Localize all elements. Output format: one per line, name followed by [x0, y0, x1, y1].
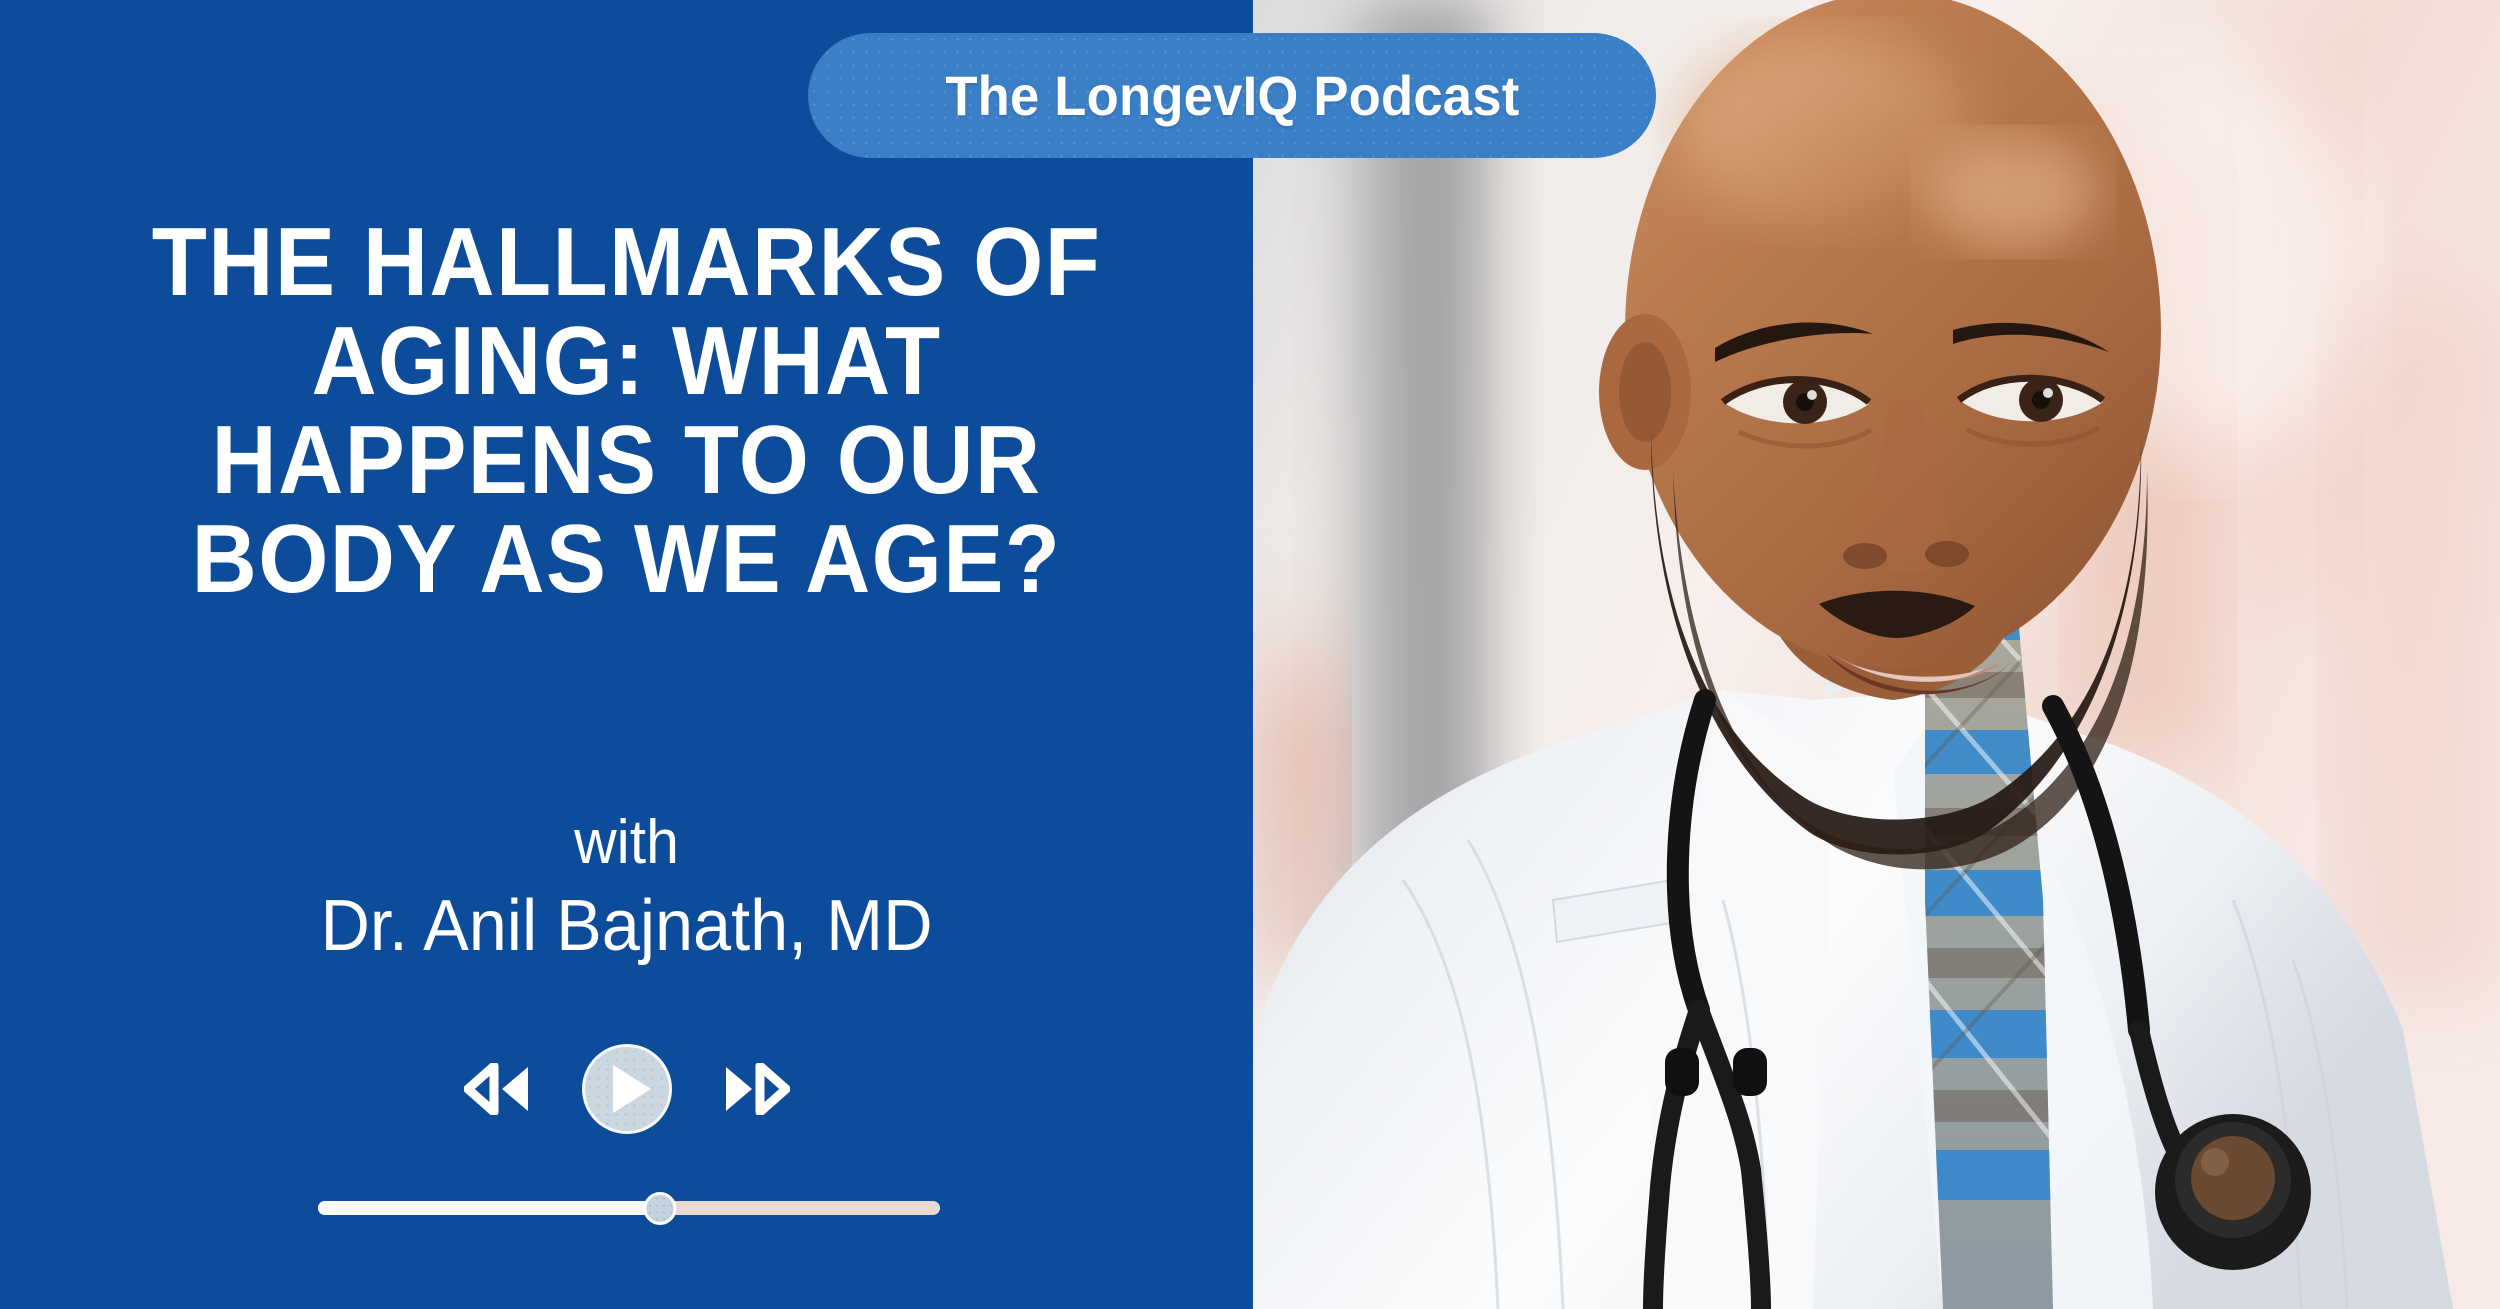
rewind-icon [464, 1063, 534, 1115]
host-photo [1253, 0, 2500, 1309]
rewind-button[interactable] [464, 1061, 534, 1117]
title-line-2: AGING: WHAT [44, 311, 1209, 410]
progress-bar[interactable] [318, 1197, 940, 1217]
forward-icon [720, 1063, 790, 1115]
forward-button[interactable] [720, 1061, 790, 1117]
progress-fill [318, 1201, 660, 1215]
host-photo-illustration [1253, 0, 2500, 1309]
title-line-3: HAPPENS TO OUR [44, 410, 1209, 509]
podcast-name-label: The LongevIQ Podcast [945, 63, 1519, 128]
title-line-1: THE HALLMARKS OF [44, 212, 1209, 311]
episode-title: THE HALLMARKS OF AGING: WHAT HAPPENS TO … [0, 212, 1253, 608]
title-line-4: BODY AS WE AGE? [44, 509, 1209, 608]
host-credit: with Dr. Anil Bajnath, MD [0, 805, 1253, 971]
podcast-name-badge[interactable]: The LongevIQ Podcast [808, 33, 1656, 158]
progress-thumb[interactable] [644, 1192, 677, 1225]
play-icon [613, 1065, 651, 1113]
host-preposition: with [31, 805, 1221, 881]
podcast-cover: The LongevIQ Podcast THE HALLMARKS OF AG… [0, 0, 2500, 1309]
play-button[interactable] [582, 1044, 672, 1134]
host-name: Dr. Anil Bajnath, MD [31, 881, 1221, 971]
player-controls [0, 1044, 1253, 1134]
